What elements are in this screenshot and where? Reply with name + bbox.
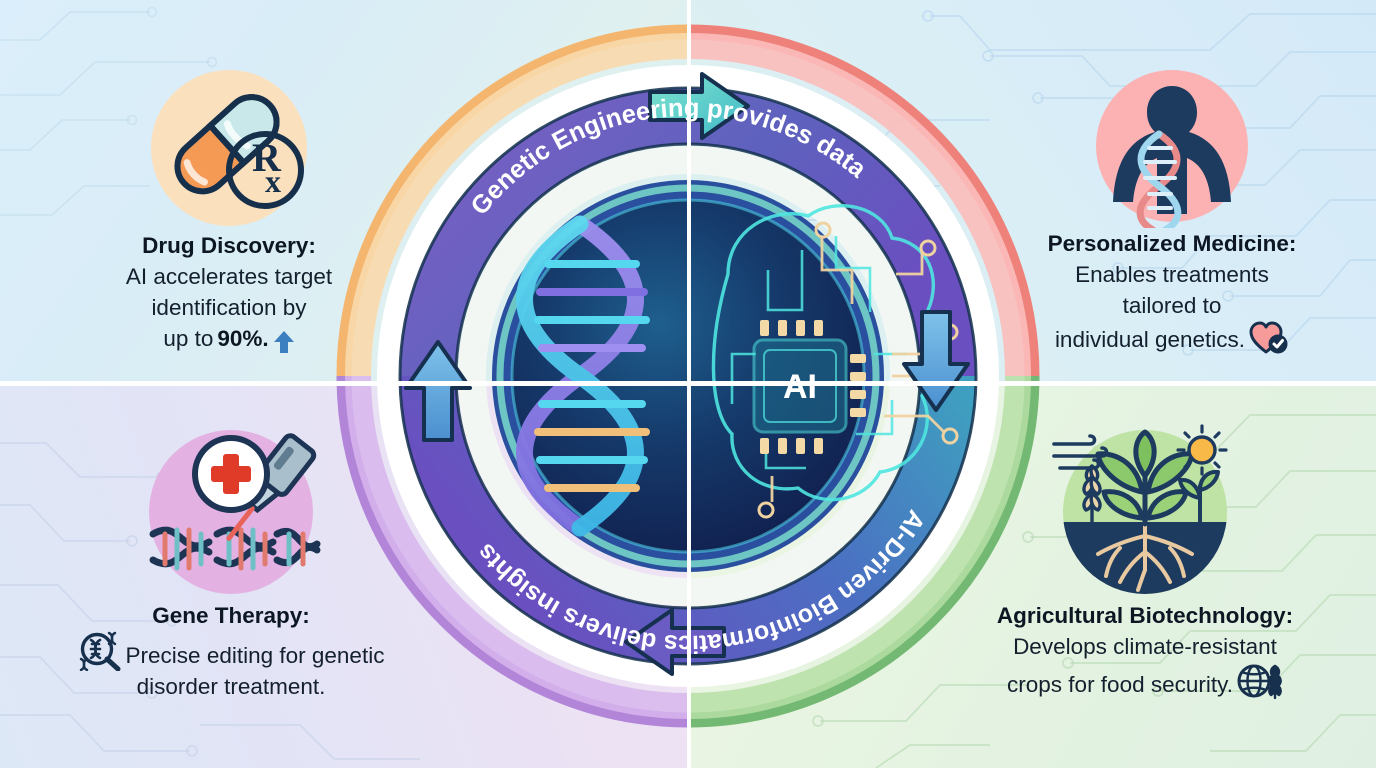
drug-discovery-heading: Drug Discovery:: [142, 233, 316, 258]
personalized-medicine-heading: Personalized Medicine:: [1048, 231, 1297, 256]
quadrant-agricultural-biotechnology: Agricultural Biotechnology: Develops cli…: [960, 420, 1330, 700]
magnifier-dna-icon: [78, 631, 122, 671]
personalized-medicine-line-2: tailored to: [1022, 290, 1322, 321]
globe-wheat-icon: [1237, 662, 1283, 700]
gene-therapy-caption: Gene Therapy: Precise editing for ge: [66, 600, 396, 702]
gene-therapy-line-1: Precise editing for genetic: [126, 640, 385, 671]
heart-check-icon: [1249, 321, 1289, 355]
arrow-up-blue-icon: [273, 330, 295, 354]
drug-discovery-line-1: AI accelerates target: [94, 261, 364, 292]
drug-discovery-caption: Drug Discovery: AI accelerates target id…: [94, 230, 364, 354]
drug-discovery-icon-wrap: R x: [94, 70, 364, 230]
ai-chip-label: AI: [783, 368, 817, 406]
personalized-medicine-line-1: Enables treatments: [1022, 259, 1322, 290]
dna-crispr-cross-icon: [131, 430, 331, 600]
infographic-canvas: AI Genetic Engineering provides data AI-…: [0, 0, 1376, 768]
agricultural-biotechnology-line-1: Develops climate-resistant: [960, 631, 1330, 662]
personalized-medicine-line-3: individual genetics.: [1055, 324, 1245, 355]
agricultural-biotechnology-icon-wrap: [960, 420, 1330, 600]
drug-discovery-highlight: 90%.: [217, 323, 268, 354]
agricultural-biotechnology-line-2: crops for food security.: [1007, 669, 1233, 700]
quadrant-gene-therapy: Gene Therapy: Precise editing for ge: [66, 430, 396, 702]
personalized-medicine-icon-wrap: [1022, 68, 1322, 228]
personalized-medicine-caption: Personalized Medicine: Enables treatment…: [1022, 228, 1322, 355]
gene-therapy-heading: Gene Therapy:: [152, 603, 310, 628]
quadrant-personalized-medicine: Personalized Medicine: Enables treatment…: [1022, 68, 1322, 355]
drug-discovery-line-3: up to: [163, 323, 213, 354]
horizontal-divider: [0, 381, 1376, 386]
gene-therapy-line-2: disorder treatment.: [66, 671, 396, 702]
agricultural-biotechnology-caption: Agricultural Biotechnology: Develops cli…: [960, 600, 1330, 700]
pill-rx-icon: R x: [139, 70, 319, 230]
quadrant-drug-discovery: R x Drug Discovery: AI accelerates targe…: [94, 70, 364, 354]
agricultural-biotechnology-heading: Agricultural Biotechnology:: [997, 603, 1293, 628]
plant-roots-sun-icon: [1050, 420, 1240, 600]
human-body-dna-icon: [1087, 68, 1257, 228]
gene-therapy-icon-wrap: [66, 430, 396, 600]
drug-discovery-line-2: identification by: [94, 292, 364, 323]
svg-text:x: x: [265, 163, 281, 199]
